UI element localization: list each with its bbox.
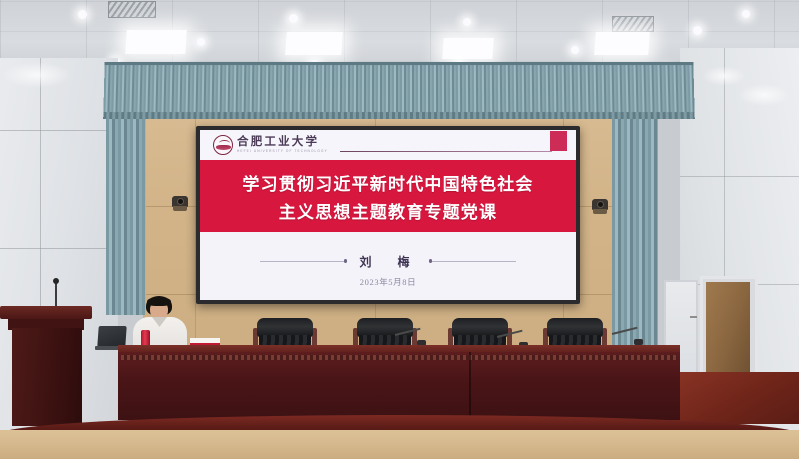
slide-footer: 刘 梅 2023年5月8日 (200, 232, 576, 300)
lectern-top (0, 306, 92, 319)
wall-seam (0, 130, 118, 131)
header-accent-block (550, 131, 567, 151)
laptop-screen (97, 326, 126, 347)
dais-front (118, 352, 680, 420)
downlight-4 (289, 14, 298, 23)
hall-floor (0, 430, 799, 459)
decorative-line-left (260, 261, 346, 262)
camera-mount (173, 206, 187, 211)
ac-vent-right (612, 16, 654, 32)
camera-lens-icon (597, 201, 604, 208)
ceiling-panel-light-4 (594, 32, 650, 55)
podium-microphone (55, 282, 57, 308)
wall-light-reflection (2, 62, 72, 88)
presenter-row: 刘 梅 (200, 253, 576, 270)
stage-curtain-right (612, 110, 658, 368)
dais-moulding (121, 355, 677, 360)
university-crest-icon (213, 135, 233, 155)
slide-date: 2023年5月8日 (360, 276, 416, 288)
slide-title-line-1: 学习贯彻习近平新时代中国特色社会 (242, 170, 533, 195)
wall-seam (0, 248, 118, 249)
curtain-valance (103, 62, 694, 114)
title-slide: 合肥工业大学 HEFEI UNIVERSITY OF TECHNOLOGY 学习… (200, 130, 576, 300)
wall-light-reflection (702, 66, 746, 86)
ptz-camera-right (592, 199, 608, 214)
header-rule (340, 151, 552, 152)
slide-title-line-2: 主义思想主题教育专题党课 (279, 198, 497, 223)
ptz-camera-left (172, 196, 188, 211)
lecture-hall-photo: 合肥工业大学 HEFEI UNIVERSITY OF TECHNOLOGY 学习… (0, 0, 799, 459)
university-name-cn: 合肥工业大学 (237, 137, 328, 149)
wall-light-reflection (738, 84, 790, 106)
decorative-line-right (430, 261, 516, 262)
downlight-3 (197, 38, 205, 46)
fringe (147, 297, 171, 306)
university-name-en: HEFEI UNIVERSITY OF TECHNOLOGY (237, 150, 328, 153)
slide-header: 合肥工业大学 HEFEI UNIVERSITY OF TECHNOLOGY (200, 130, 576, 160)
stage-door[interactable] (706, 282, 750, 374)
downlight-11 (742, 10, 750, 18)
university-logo: 合肥工业大学 HEFEI UNIVERSITY OF TECHNOLOGY (213, 135, 328, 155)
downlight-9 (693, 26, 702, 35)
camera-lens-icon (177, 198, 184, 205)
ac-vent-left (108, 1, 156, 18)
ceiling-panel-light-1 (125, 30, 187, 54)
led-presentation-screen: 合肥工业大学 HEFEI UNIVERSITY OF TECHNOLOGY 学习… (196, 126, 580, 304)
camera-mount (593, 209, 607, 214)
door-handle[interactable] (690, 316, 697, 318)
stage-curtain-left (106, 110, 146, 315)
lectern-body (12, 328, 82, 426)
ceiling-panel-light-3 (442, 38, 493, 59)
downlight-6 (463, 18, 471, 26)
lectern (2, 306, 90, 426)
downlight-8 (571, 46, 579, 54)
stage-floor (660, 372, 799, 424)
dais-seam (469, 352, 471, 420)
slide-title-banner: 学习贯彻习近平新时代中国特色社会 主义思想主题教育专题党课 (200, 160, 576, 232)
ceiling-panel-light-2 (285, 32, 343, 55)
wall-seam (680, 176, 799, 177)
downlight-1 (78, 10, 87, 19)
university-logo-text: 合肥工业大学 HEFEI UNIVERSITY OF TECHNOLOGY (237, 137, 328, 153)
presenter-name: 刘 梅 (359, 253, 416, 270)
